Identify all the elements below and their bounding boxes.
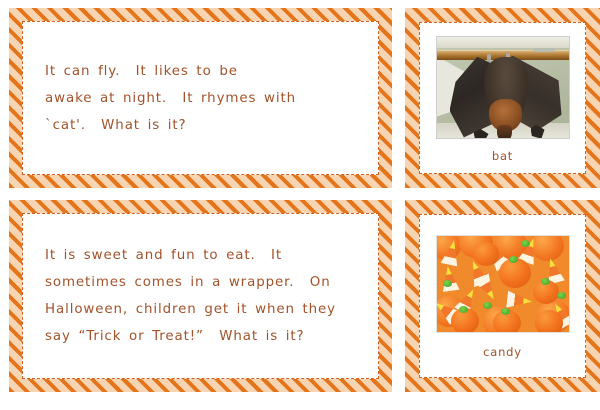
card-inner: candy: [419, 214, 586, 378]
ceiling-strip: [437, 37, 569, 48]
answer-label-bat: bat: [492, 151, 513, 163]
bat-claw-left: [487, 54, 491, 62]
picture-card-body: bat: [420, 23, 585, 173]
riddle-text-candy: It is sweet and fun to eat. It sometimes…: [23, 238, 378, 354]
riddle-card-bat: It can fly. It likes to be awake at nigh…: [9, 8, 392, 188]
bat-snout: [497, 125, 512, 139]
bat-photo: [436, 36, 570, 139]
candy-illustration: [437, 236, 569, 332]
card-inner: It can fly. It likes to be awake at nigh…: [22, 21, 379, 175]
riddle-card-candy: It is sweet and fun to eat. It sometimes…: [9, 200, 392, 392]
answer-card-candy: candy: [405, 200, 600, 392]
card-inner: bat: [419, 22, 586, 174]
bat-illustration: [437, 37, 569, 138]
riddle-card-sheet: It can fly. It likes to be awake at nigh…: [0, 0, 600, 410]
card-inner: It is sweet and fun to eat. It sometimes…: [22, 213, 379, 379]
answer-label-candy: candy: [483, 347, 522, 359]
pole-bracket: [533, 48, 555, 52]
candy-photo: [436, 235, 570, 333]
answer-card-bat: bat: [405, 8, 600, 188]
riddle-text-bat: It can fly. It likes to be awake at nigh…: [23, 54, 378, 143]
picture-card-body: candy: [420, 215, 585, 377]
